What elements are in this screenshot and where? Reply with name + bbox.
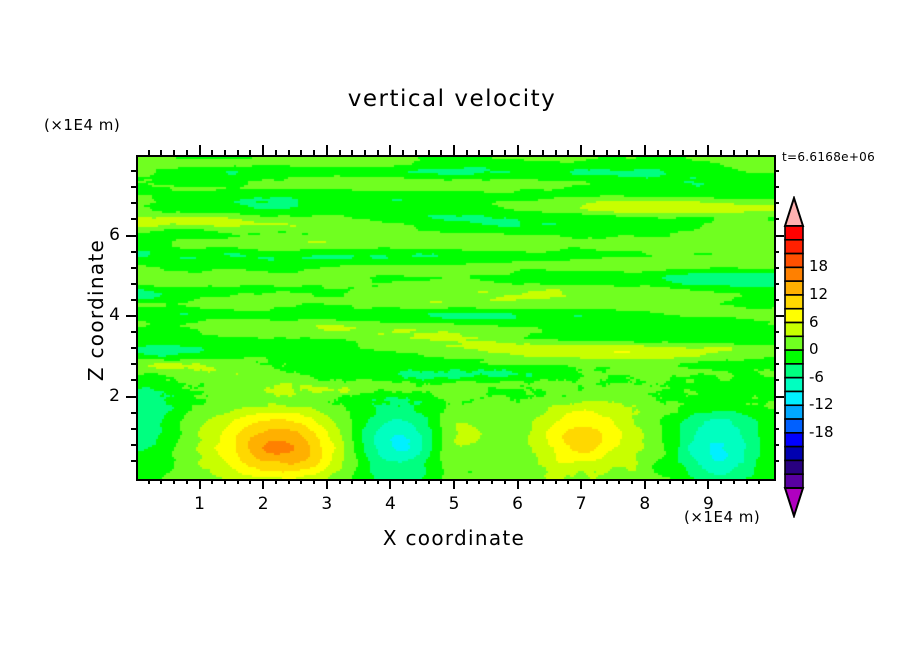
- tick-mark: [237, 479, 239, 484]
- tick-mark: [249, 150, 251, 155]
- tick-mark: [669, 479, 671, 484]
- tick-mark: [211, 479, 213, 484]
- tick-mark: [504, 150, 506, 155]
- tick-mark: [593, 479, 595, 484]
- tick-mark: [131, 251, 136, 253]
- tick-mark: [326, 145, 328, 155]
- tick-mark: [542, 479, 544, 484]
- x-tick-label: 2: [243, 494, 283, 514]
- tick-mark: [567, 479, 569, 484]
- tick-mark: [746, 150, 748, 155]
- tick-mark: [131, 218, 136, 220]
- tick-mark: [389, 145, 391, 155]
- tick-mark: [160, 150, 162, 155]
- tick-mark: [131, 267, 136, 269]
- tick-mark: [618, 479, 620, 484]
- contour-plot-figure: vertical velocity (×1E4 m) (×1E4 m) t=6.…: [0, 0, 904, 654]
- x-tick-label: 7: [561, 494, 601, 514]
- tick-mark: [313, 479, 315, 484]
- tick-mark: [173, 479, 175, 484]
- tick-mark: [774, 331, 779, 333]
- tick-mark: [126, 396, 136, 398]
- tick-mark: [131, 347, 136, 349]
- z-axis-unit-label: (×1E4 m): [44, 116, 120, 134]
- tick-mark: [224, 150, 226, 155]
- tick-mark: [186, 479, 188, 484]
- tick-mark: [478, 479, 480, 484]
- tick-mark: [774, 299, 779, 301]
- tick-mark: [644, 479, 646, 489]
- colorbar-tick-label: 0: [809, 340, 819, 358]
- x-tick-label: 6: [498, 494, 538, 514]
- tick-mark: [186, 150, 188, 155]
- tick-mark: [774, 347, 779, 349]
- tick-mark: [491, 479, 493, 484]
- tick-mark: [339, 479, 341, 484]
- tick-mark: [631, 150, 633, 155]
- tick-mark: [606, 479, 608, 484]
- tick-mark: [428, 150, 430, 155]
- tick-mark: [148, 150, 150, 155]
- tick-mark: [389, 479, 391, 489]
- tick-mark: [733, 150, 735, 155]
- tick-mark: [774, 267, 779, 269]
- tick-mark: [517, 145, 519, 155]
- tick-mark: [555, 150, 557, 155]
- tick-mark: [415, 479, 417, 484]
- tick-mark: [774, 412, 779, 414]
- colorbar: [783, 196, 805, 518]
- tick-mark: [126, 315, 136, 317]
- tick-mark: [275, 479, 277, 484]
- tick-mark: [682, 150, 684, 155]
- tick-mark: [606, 150, 608, 155]
- tick-mark: [529, 150, 531, 155]
- x-tick-label: 1: [180, 494, 220, 514]
- tick-mark: [262, 479, 264, 489]
- tick-mark: [377, 150, 379, 155]
- tick-mark: [682, 479, 684, 484]
- tick-mark: [504, 479, 506, 484]
- plot-area: [136, 155, 776, 481]
- x-tick-label: 8: [625, 494, 665, 514]
- tick-mark: [326, 479, 328, 489]
- time-annotation: t=6.6168e+06: [782, 150, 875, 164]
- tick-mark: [720, 479, 722, 484]
- colorbar-tick-labels: 181260-6-12-18: [809, 196, 879, 518]
- tick-mark: [440, 479, 442, 484]
- tick-mark: [707, 479, 709, 489]
- tick-mark: [377, 479, 379, 484]
- tick-mark: [774, 186, 779, 188]
- tick-mark: [131, 460, 136, 462]
- colorbar-tick-label: -12: [809, 395, 834, 413]
- tick-mark: [402, 479, 404, 484]
- tick-mark: [695, 150, 697, 155]
- page-title: vertical velocity: [0, 86, 904, 112]
- tick-mark: [466, 479, 468, 484]
- tick-mark: [774, 444, 779, 446]
- tick-mark: [580, 479, 582, 489]
- tick-mark: [774, 363, 779, 365]
- tick-mark: [631, 479, 633, 484]
- tick-mark: [453, 145, 455, 155]
- tick-mark: [262, 145, 264, 155]
- tick-mark: [774, 379, 779, 381]
- colorbar-tick-label: -18: [809, 423, 834, 441]
- y-tick-label: 2: [80, 386, 120, 406]
- y-tick-label: 4: [80, 305, 120, 325]
- tick-mark: [517, 479, 519, 489]
- tick-mark: [746, 479, 748, 484]
- tick-mark: [237, 150, 239, 155]
- tick-mark: [131, 363, 136, 365]
- contour-field-canvas: [138, 157, 774, 479]
- tick-mark: [758, 150, 760, 155]
- tick-mark: [211, 150, 213, 155]
- x-tick-label: 4: [370, 494, 410, 514]
- tick-mark: [774, 251, 779, 253]
- tick-mark: [313, 150, 315, 155]
- tick-mark: [618, 150, 620, 155]
- tick-mark: [199, 479, 201, 489]
- tick-mark: [774, 460, 779, 462]
- tick-mark: [126, 235, 136, 237]
- tick-mark: [131, 283, 136, 285]
- x-tick-label: 3: [307, 494, 347, 514]
- tick-mark: [428, 479, 430, 484]
- tick-mark: [131, 299, 136, 301]
- y-tick-label: 6: [80, 225, 120, 245]
- tick-mark: [491, 150, 493, 155]
- tick-mark: [351, 150, 353, 155]
- tick-mark: [199, 145, 201, 155]
- tick-mark: [415, 150, 417, 155]
- tick-mark: [657, 150, 659, 155]
- tick-mark: [466, 150, 468, 155]
- colorbar-tick-label: 6: [809, 313, 819, 331]
- tick-mark: [402, 150, 404, 155]
- tick-mark: [131, 428, 136, 430]
- x-axis-title: X coordinate: [136, 526, 772, 550]
- tick-mark: [131, 379, 136, 381]
- tick-mark: [580, 145, 582, 155]
- tick-mark: [224, 479, 226, 484]
- tick-mark: [249, 479, 251, 484]
- tick-mark: [567, 150, 569, 155]
- colorbar-tick-label: -6: [809, 368, 824, 386]
- colorbar-tick-label: 12: [809, 285, 828, 303]
- tick-mark: [774, 218, 779, 220]
- tick-mark: [720, 150, 722, 155]
- tick-mark: [478, 150, 480, 155]
- tick-mark: [529, 479, 531, 484]
- tick-mark: [669, 150, 671, 155]
- tick-mark: [131, 331, 136, 333]
- tick-mark: [148, 479, 150, 484]
- tick-mark: [644, 145, 646, 155]
- x-tick-label: 9: [688, 494, 728, 514]
- tick-mark: [160, 479, 162, 484]
- tick-mark: [695, 479, 697, 484]
- tick-mark: [453, 479, 455, 489]
- tick-mark: [131, 412, 136, 414]
- tick-mark: [774, 202, 779, 204]
- tick-mark: [131, 170, 136, 172]
- tick-mark: [300, 150, 302, 155]
- tick-mark: [351, 479, 353, 484]
- tick-mark: [440, 150, 442, 155]
- tick-mark: [657, 479, 659, 484]
- tick-mark: [707, 145, 709, 155]
- tick-mark: [774, 283, 779, 285]
- tick-mark: [131, 202, 136, 204]
- tick-mark: [288, 479, 290, 484]
- colorbar-tick-label: 18: [809, 257, 828, 275]
- tick-mark: [300, 479, 302, 484]
- tick-mark: [364, 479, 366, 484]
- tick-mark: [364, 150, 366, 155]
- tick-mark: [542, 150, 544, 155]
- tick-mark: [774, 170, 779, 172]
- tick-mark: [288, 150, 290, 155]
- tick-mark: [774, 428, 779, 430]
- tick-mark: [173, 150, 175, 155]
- tick-mark: [593, 150, 595, 155]
- tick-mark: [758, 479, 760, 484]
- x-tick-label: 5: [434, 494, 474, 514]
- tick-mark: [131, 444, 136, 446]
- tick-mark: [131, 186, 136, 188]
- tick-mark: [733, 479, 735, 484]
- tick-mark: [339, 150, 341, 155]
- tick-mark: [555, 479, 557, 484]
- tick-mark: [275, 150, 277, 155]
